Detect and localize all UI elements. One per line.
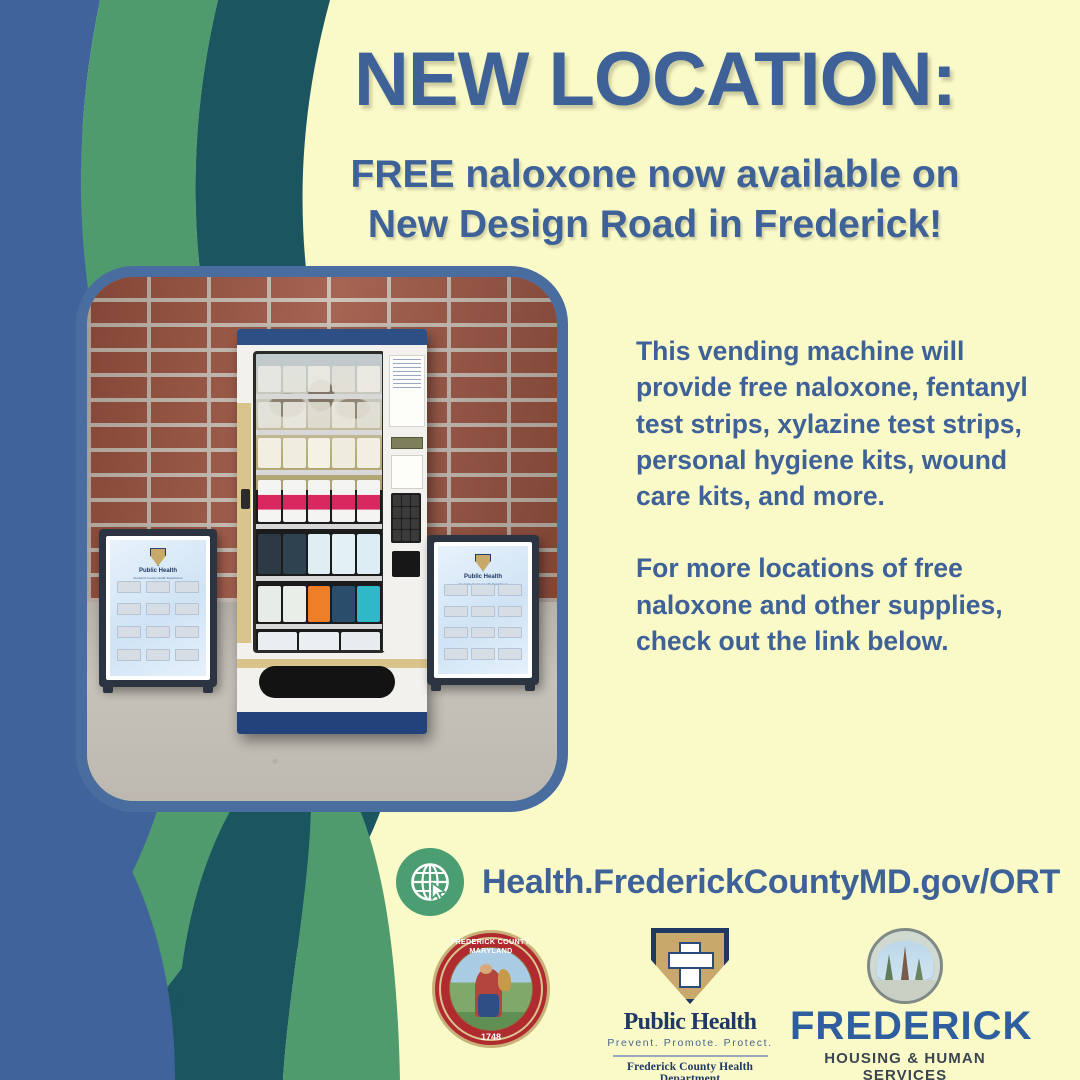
seal-ring-text: FREDERICK COUNTY, MARYLAND — [432, 937, 550, 955]
sign-title: Public Health — [438, 574, 528, 580]
coin-slot — [241, 489, 250, 509]
subtitle-line-2: New Design Road in Frederick! — [255, 200, 1055, 250]
seal-spire-3 — [915, 958, 923, 980]
dispenser-tray[interactable] — [259, 666, 395, 698]
shelf-6 — [256, 624, 382, 629]
globe-cursor-icon — [396, 848, 464, 916]
photo-inner: Public Health Frederick County Health De… — [87, 277, 557, 801]
shelf-1 — [256, 394, 382, 399]
instruction-card — [391, 455, 423, 489]
sign-sheet: Public Health Frederick County Health De… — [110, 540, 206, 676]
seal-year: 1748 — [432, 1032, 550, 1042]
sign-legs — [99, 685, 217, 693]
sign-panel: Public Health Frederick County Health De… — [106, 536, 210, 680]
machine-keypad[interactable] — [391, 493, 421, 543]
seal-scene — [449, 947, 533, 1031]
frederick-wordmark: FREDERICK — [790, 1006, 1020, 1046]
product-row-hygiene — [256, 586, 382, 622]
machine-display-screen — [392, 551, 420, 577]
public-health-shield-icon — [475, 554, 491, 572]
logo-row: FREDERICK COUNTY, MARYLAND 1748 Public H… — [0, 928, 1080, 1080]
body-paragraph-1: This vending machine will provide free n… — [636, 333, 1051, 514]
machine-base — [237, 712, 427, 734]
website-link-row[interactable]: Health.FrederickCountyMD.gov/ORT — [396, 848, 1060, 916]
frederick-housing-logo: FREDERICK HOUSING & HUMAN SERVICES A Com… — [790, 928, 1020, 1078]
seal-base — [870, 980, 940, 1001]
sign-title: Public Health — [110, 568, 206, 574]
sign-product-grid — [444, 584, 521, 666]
a-frame-sign-right: Public Health Frederick County Health De… — [427, 535, 539, 685]
vending-machine — [237, 329, 427, 734]
product-row-wound — [256, 632, 382, 653]
website-url-text[interactable]: Health.FrederickCountyMD.gov/ORT — [482, 863, 1060, 902]
product-row-kits — [256, 534, 382, 574]
public-health-shield-icon — [651, 928, 729, 1004]
product-row-naloxone — [256, 480, 382, 522]
page-subtitle: FREE naloxone now available on New Desig… — [255, 150, 1055, 250]
sign-header: Public Health Frederick County Health De… — [438, 554, 528, 586]
machine-glass-window — [253, 351, 385, 653]
public-health-department: Frederick County Health Department — [600, 1061, 780, 1080]
shelf-5 — [256, 576, 382, 581]
posted-notice-sheet — [389, 355, 425, 427]
sign-legs — [427, 683, 539, 691]
sign-subtitle: Frederick County Health Department — [110, 576, 206, 580]
machine-control-panel — [383, 351, 427, 651]
machine-gold-stripe-left — [237, 403, 251, 643]
a-frame-sign-left: Public Health Frederick County Health De… — [99, 529, 217, 687]
shelf-4 — [256, 524, 382, 529]
sign-sheet: Public Health Frederick County Health De… — [438, 546, 528, 674]
city-of-frederick-seal-icon — [867, 928, 943, 1004]
public-health-shield-icon — [150, 548, 166, 566]
body-copy: This vending machine will provide free n… — [636, 333, 1051, 659]
public-health-title: Public Health — [600, 1009, 780, 1036]
sign-header: Public Health Frederick County Health De… — [110, 548, 206, 580]
product-row-2 — [256, 402, 382, 428]
vending-machine-photo: Public Health Frederick County Health De… — [76, 266, 568, 812]
housing-services-line: HOUSING & HUMAN SERVICES — [790, 1050, 1020, 1080]
divider — [613, 1055, 768, 1057]
frederick-county-seal-icon: FREDERICK COUNTY, MARYLAND 1748 — [432, 930, 550, 1048]
product-row-1 — [256, 366, 382, 392]
machine-top-bar — [237, 329, 427, 345]
machine-brand-plate — [391, 437, 423, 449]
public-health-tagline: Prevent. Promote. Protect. — [600, 1037, 780, 1049]
sign-panel: Public Health Frederick County Health De… — [434, 542, 532, 678]
sign-product-grid — [117, 581, 200, 668]
subtitle-line-1: FREE naloxone now available on — [255, 150, 1055, 200]
public-health-logo: Public Health Prevent. Promote. Protect.… — [600, 928, 780, 1078]
seal-wheat-sheaf — [498, 969, 511, 990]
seal-farmer-head — [480, 964, 491, 974]
seal-spire-1 — [885, 954, 893, 980]
health-cross-icon — [679, 942, 701, 988]
product-row-3 — [256, 438, 382, 468]
body-paragraph-2: For more locations of free naloxone and … — [636, 550, 1051, 659]
shelf-2 — [256, 430, 382, 435]
page-title: NEW LOCATION: — [255, 42, 1055, 118]
poster-canvas: NEW LOCATION: FREE naloxone now availabl… — [0, 0, 1080, 1080]
seal-spire-2 — [901, 946, 909, 980]
shelf-3 — [256, 470, 382, 475]
